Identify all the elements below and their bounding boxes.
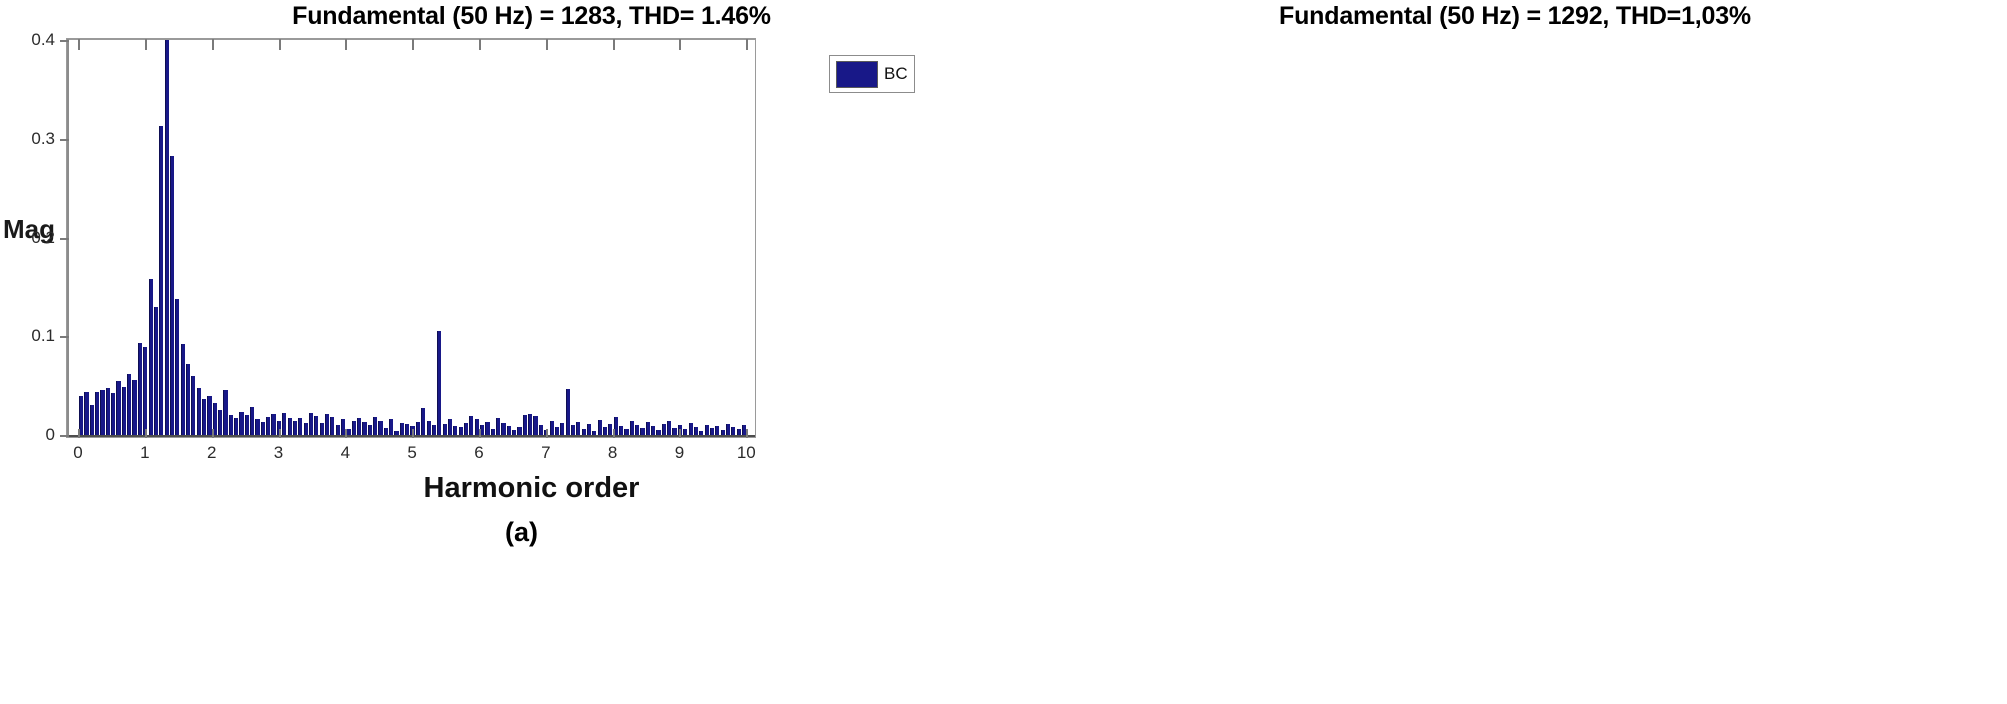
bar xyxy=(250,407,254,435)
bar xyxy=(271,414,275,435)
y-tick-label: 0 xyxy=(46,425,55,445)
chart-title-a: Fundamental (50 Hz) = 1283, THD= 1.46% xyxy=(0,2,1033,31)
y-tick-label: 0.1 xyxy=(31,326,55,346)
x-tick-label: 10 xyxy=(737,443,756,463)
bar xyxy=(694,427,698,435)
bar xyxy=(710,428,714,435)
bar xyxy=(640,428,644,435)
y-tick-label: 0.4 xyxy=(31,30,55,50)
bar xyxy=(656,430,660,435)
y-tick-label: 0.3 xyxy=(31,129,55,149)
x-tick-top xyxy=(679,39,681,50)
bar xyxy=(175,299,179,435)
bar xyxy=(304,423,308,435)
bar xyxy=(469,416,473,435)
y-tick xyxy=(60,40,69,42)
bar xyxy=(181,344,185,435)
x-tick xyxy=(145,429,147,438)
bar xyxy=(405,424,409,435)
bar xyxy=(464,423,468,435)
bar xyxy=(571,425,575,435)
bar xyxy=(149,279,153,435)
bar xyxy=(314,416,318,435)
bar xyxy=(523,415,527,435)
bar xyxy=(437,331,441,435)
bar xyxy=(143,347,147,435)
bar xyxy=(501,423,505,435)
bar xyxy=(320,423,324,435)
bar xyxy=(453,426,457,435)
bar xyxy=(550,421,554,435)
bar xyxy=(400,423,404,435)
bar xyxy=(512,430,516,435)
x-tick-label: 0 xyxy=(73,443,82,463)
bar xyxy=(689,423,693,435)
x-tick-label: 7 xyxy=(541,443,550,463)
bar xyxy=(84,392,88,435)
bar xyxy=(159,126,163,435)
panel-a: Fundamental (50 Hz) = 1283, THD= 1.46% M… xyxy=(0,0,1003,704)
bar xyxy=(373,417,377,435)
bar xyxy=(378,421,382,435)
bar xyxy=(582,429,586,435)
bar xyxy=(619,426,623,435)
bar xyxy=(576,422,580,435)
legend-label-a: BC xyxy=(884,64,908,84)
bar xyxy=(223,390,227,435)
x-tick xyxy=(279,429,281,438)
bar xyxy=(394,431,398,435)
bar xyxy=(427,421,431,435)
x-tick-label: 2 xyxy=(207,443,216,463)
bar xyxy=(705,425,709,435)
bar xyxy=(357,418,361,435)
bar xyxy=(699,431,703,435)
bar xyxy=(624,429,628,435)
bar xyxy=(218,410,222,435)
bar xyxy=(95,392,99,435)
x-tick-top xyxy=(212,39,214,50)
bar xyxy=(186,364,190,435)
bar xyxy=(309,413,313,435)
bar xyxy=(245,415,249,435)
x-tick xyxy=(212,429,214,438)
x-tick-top xyxy=(479,39,481,50)
bar xyxy=(630,421,634,435)
y-tick xyxy=(60,336,69,338)
bar xyxy=(122,387,126,435)
bar xyxy=(255,419,259,435)
bar xyxy=(165,40,169,435)
bar xyxy=(154,307,158,435)
x-tick xyxy=(613,429,615,438)
plot-area-a: 00.10.20.30.4012345678910 xyxy=(66,38,756,438)
x-tick xyxy=(546,429,548,438)
bar xyxy=(298,418,302,435)
bar xyxy=(239,412,243,435)
bar xyxy=(539,425,543,435)
bar xyxy=(560,423,564,435)
bar xyxy=(603,427,607,435)
bar xyxy=(90,405,94,435)
bar xyxy=(138,343,142,435)
bar xyxy=(443,424,447,435)
bar xyxy=(111,393,115,435)
bar xyxy=(459,427,463,435)
bar xyxy=(261,422,265,435)
x-tick-label: 5 xyxy=(407,443,416,463)
bar xyxy=(672,428,676,435)
x-tick xyxy=(679,429,681,438)
bar-series-a xyxy=(69,39,754,435)
bar xyxy=(721,430,725,435)
bar xyxy=(662,424,666,435)
x-axis-label-a: Harmonic order xyxy=(0,472,1033,505)
bar xyxy=(234,418,238,435)
bar xyxy=(330,417,334,435)
x-tick-label: 4 xyxy=(341,443,350,463)
bar xyxy=(116,381,120,435)
x-tick-top xyxy=(412,39,414,50)
bar xyxy=(132,380,136,435)
y-tick xyxy=(60,435,69,437)
bar xyxy=(667,421,671,435)
x-tick xyxy=(479,429,481,438)
bar xyxy=(202,399,206,435)
bar xyxy=(485,422,489,435)
bar xyxy=(528,414,532,435)
x-tick-top xyxy=(145,39,147,50)
bar xyxy=(325,414,329,435)
x-tick xyxy=(345,429,347,438)
bar xyxy=(635,425,639,435)
bar xyxy=(715,426,719,435)
bar xyxy=(566,389,570,435)
x-tick xyxy=(412,429,414,438)
bar xyxy=(517,427,521,435)
bar xyxy=(229,415,233,435)
bar xyxy=(293,421,297,435)
legend-a[interactable]: BC xyxy=(829,55,915,93)
bar xyxy=(432,425,436,435)
bar xyxy=(336,425,340,435)
bar xyxy=(106,388,110,435)
bar xyxy=(362,422,366,435)
bar xyxy=(197,388,201,435)
bar xyxy=(737,429,741,435)
x-tick-top xyxy=(78,39,80,50)
bar xyxy=(592,431,596,435)
bar xyxy=(448,419,452,435)
bar xyxy=(533,416,537,435)
legend-swatch-icon xyxy=(836,61,878,88)
bar xyxy=(100,390,104,435)
bar xyxy=(368,425,372,435)
bar xyxy=(282,413,286,435)
bar xyxy=(555,427,559,435)
bar xyxy=(507,426,511,435)
x-tick-label: 3 xyxy=(274,443,283,463)
bar xyxy=(191,376,195,435)
bar xyxy=(127,374,131,435)
x-tick-top xyxy=(613,39,615,50)
bar xyxy=(389,419,393,435)
x-tick-label: 6 xyxy=(474,443,483,463)
bar xyxy=(384,428,388,435)
subfigure-caption-a: (a) xyxy=(0,517,1023,548)
bar xyxy=(352,421,356,435)
bar xyxy=(726,424,730,435)
x-tick-top xyxy=(345,39,347,50)
bar xyxy=(683,429,687,435)
y-tick xyxy=(60,139,69,141)
y-tick-label: 0.2 xyxy=(31,228,55,248)
x-tick xyxy=(78,429,80,438)
x-tick-top xyxy=(279,39,281,50)
bar xyxy=(416,422,420,435)
bar xyxy=(651,426,655,435)
bar xyxy=(491,429,495,435)
x-tick-top xyxy=(546,39,548,50)
bar xyxy=(496,418,500,435)
figure-canvas: Fundamental (50 Hz) = 1283, THD= 1.46% M… xyxy=(0,0,2007,704)
x-tick-label: 9 xyxy=(675,443,684,463)
bar xyxy=(598,420,602,435)
bar xyxy=(288,418,292,435)
y-tick xyxy=(60,238,69,240)
bar xyxy=(170,156,174,435)
bar xyxy=(266,417,270,435)
bar xyxy=(587,424,591,435)
x-tick xyxy=(746,429,748,438)
bar xyxy=(731,427,735,435)
bar xyxy=(421,408,425,435)
x-tick-top xyxy=(746,39,748,50)
chart-title-b: Fundamental (50 Hz) = 1292, THD=1,03% xyxy=(1003,2,2007,31)
x-tick-label: 8 xyxy=(608,443,617,463)
bar xyxy=(646,422,650,435)
axis-bottom-a xyxy=(67,435,755,437)
panel-b: Fundamental (50 Hz) = 1292, THD=1,03% Ma… xyxy=(1003,0,2007,704)
x-tick-label: 1 xyxy=(140,443,149,463)
